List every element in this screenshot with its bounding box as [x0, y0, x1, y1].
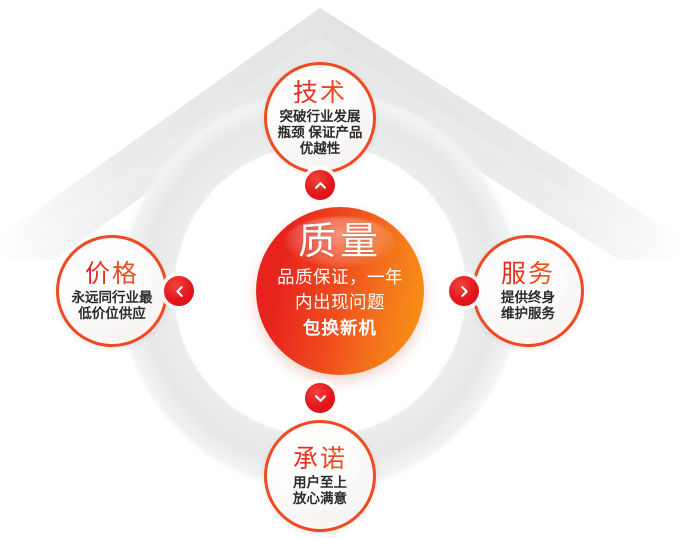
- chevron-up-icon: [313, 178, 328, 193]
- connector-badge-bottom[interactable]: [305, 383, 335, 413]
- node-service-body: 提供终身 维护服务: [501, 290, 555, 322]
- center-hub-line-2: 内出现问题: [256, 291, 424, 314]
- node-price-body: 永远同行业最 低价位供应: [72, 290, 153, 322]
- infographic-canvas: 质量 品质保证，一年 内出现问题 包换新机 技术 突破行业发展 瓶颈 保证产品 …: [0, 0, 680, 539]
- node-technology-title: 技术: [293, 80, 347, 107]
- node-promise[interactable]: 承诺 用户至上 放心满意: [264, 420, 376, 532]
- center-hub-line-1: 品质保证，一年: [256, 266, 424, 289]
- node-technology[interactable]: 技术 突破行业发展 瓶颈 保证产品 优越性: [264, 62, 376, 174]
- center-hub[interactable]: 质量 品质保证，一年 内出现问题 包换新机: [256, 207, 424, 375]
- connector-badge-left[interactable]: [164, 276, 194, 306]
- node-promise-title: 承诺: [293, 446, 347, 473]
- node-service[interactable]: 服务 提供终身 维护服务: [472, 235, 584, 347]
- center-hub-title: 质量: [256, 220, 424, 264]
- connector-badge-right[interactable]: [449, 276, 479, 306]
- connector-badge-top[interactable]: [305, 170, 335, 200]
- node-price[interactable]: 价格 永远同行业最 低价位供应: [56, 235, 168, 347]
- node-price-title: 价格: [85, 261, 139, 288]
- node-technology-body: 突破行业发展 瓶颈 保证产品 优越性: [278, 109, 363, 157]
- node-service-title: 服务: [501, 261, 555, 288]
- chevron-left-icon: [172, 284, 187, 299]
- chevron-down-icon: [313, 391, 328, 406]
- center-hub-emphasis: 包换新机: [256, 317, 424, 340]
- chevron-right-icon: [457, 284, 472, 299]
- node-promise-body: 用户至上 放心满意: [293, 475, 347, 507]
